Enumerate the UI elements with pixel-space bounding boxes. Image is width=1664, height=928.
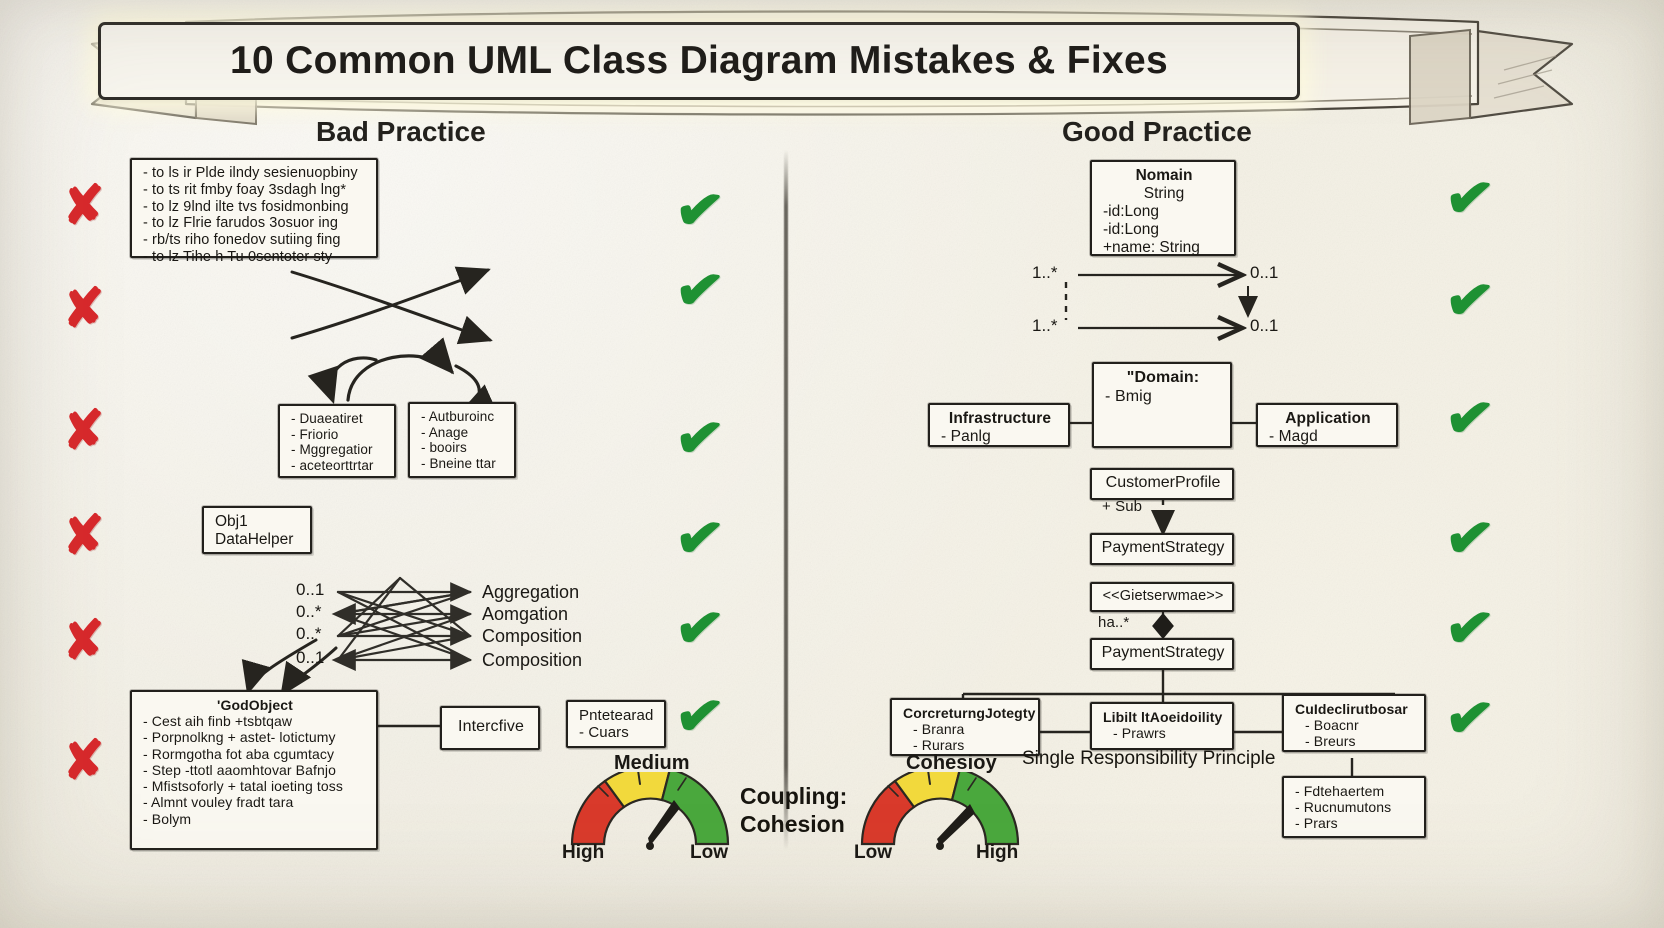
good-mult-right-1: 0..1: [1250, 263, 1278, 283]
good-subclass-box-3: CuIdeclirutbosar - Boacnr - Breurs: [1282, 694, 1426, 752]
good-has-label: ha..*: [1098, 614, 1129, 631]
good-package-infrastructure: Infrastructure - Panlg: [928, 403, 1070, 447]
good-subclass-3-title: CuIdeclirutbosar: [1295, 701, 1415, 717]
good-gauge: [850, 772, 1030, 852]
good-subclass-1-title: CorcreturngJotegty: [903, 705, 1029, 721]
good-package-application-title: Application: [1269, 410, 1387, 428]
good-gauge-left-label: Low: [854, 842, 892, 864]
good-subclass-box-1: CorcreturngJotegty - Branra - Rurars: [890, 698, 1040, 756]
good-subclass-2-title: Libilt ltAoeidoility: [1103, 709, 1223, 725]
good-mult-left-1: 1..*: [1032, 263, 1058, 283]
good-package-infrastructure-line: - Panlg: [941, 428, 1059, 446]
good-package-domain-title: "Domain:: [1105, 369, 1221, 388]
good-subclass-2-line: - Prawrs: [1103, 725, 1223, 741]
good-package-application: Application - Magd: [1256, 403, 1398, 447]
good-mult-left-2: 1..*: [1032, 316, 1058, 336]
good-customer-profile-label: CustomerProfile: [1106, 474, 1221, 493]
good-subclass-3-line: - Breurs: [1295, 733, 1415, 749]
good-extra-box-line: - Fdtehaertem: [1295, 783, 1415, 799]
good-package-application-line: - Magd: [1269, 428, 1387, 446]
good-sub-label: + Sub: [1102, 498, 1142, 515]
good-payment-strategy-box-1: PaymentStrategy: [1090, 533, 1234, 565]
good-mult-right-2: 0..1: [1250, 316, 1278, 336]
good-customer-profile-box: CustomerProfile: [1090, 468, 1234, 500]
good-extra-box-line: - Rucnumutons: [1295, 799, 1415, 815]
good-extra-box: - Fdtehaertem - Rucnumutons - Prars: [1282, 776, 1426, 838]
good-subclass-box-2: Libilt ltAoeidoility - Prawrs: [1090, 702, 1234, 750]
good-package-domain: "Domain: - Bmig: [1092, 362, 1232, 448]
good-stereotype-box: <<Gietserwmae>>: [1090, 582, 1234, 612]
good-package-domain-line: - Bmig: [1105, 388, 1221, 407]
good-payment-strategy-label-1: PaymentStrategy: [1102, 539, 1225, 558]
good-subclass-1-line: - Branra: [903, 721, 1029, 737]
good-package-infrastructure-title: Infrastructure: [941, 410, 1059, 428]
good-subclass-3-line: - Boacnr: [1295, 717, 1415, 733]
good-stereotype-label: <<Gietserwmae>>: [1103, 588, 1224, 605]
srp-note: Single Responsibility Principle: [1022, 748, 1275, 770]
good-payment-strategy-box-2: PaymentStrategy: [1090, 638, 1234, 670]
good-extra-box-line: - Prars: [1295, 815, 1415, 831]
good-gauge-right-label: High: [976, 842, 1018, 864]
good-payment-strategy-label-2: PaymentStrategy: [1102, 644, 1225, 663]
